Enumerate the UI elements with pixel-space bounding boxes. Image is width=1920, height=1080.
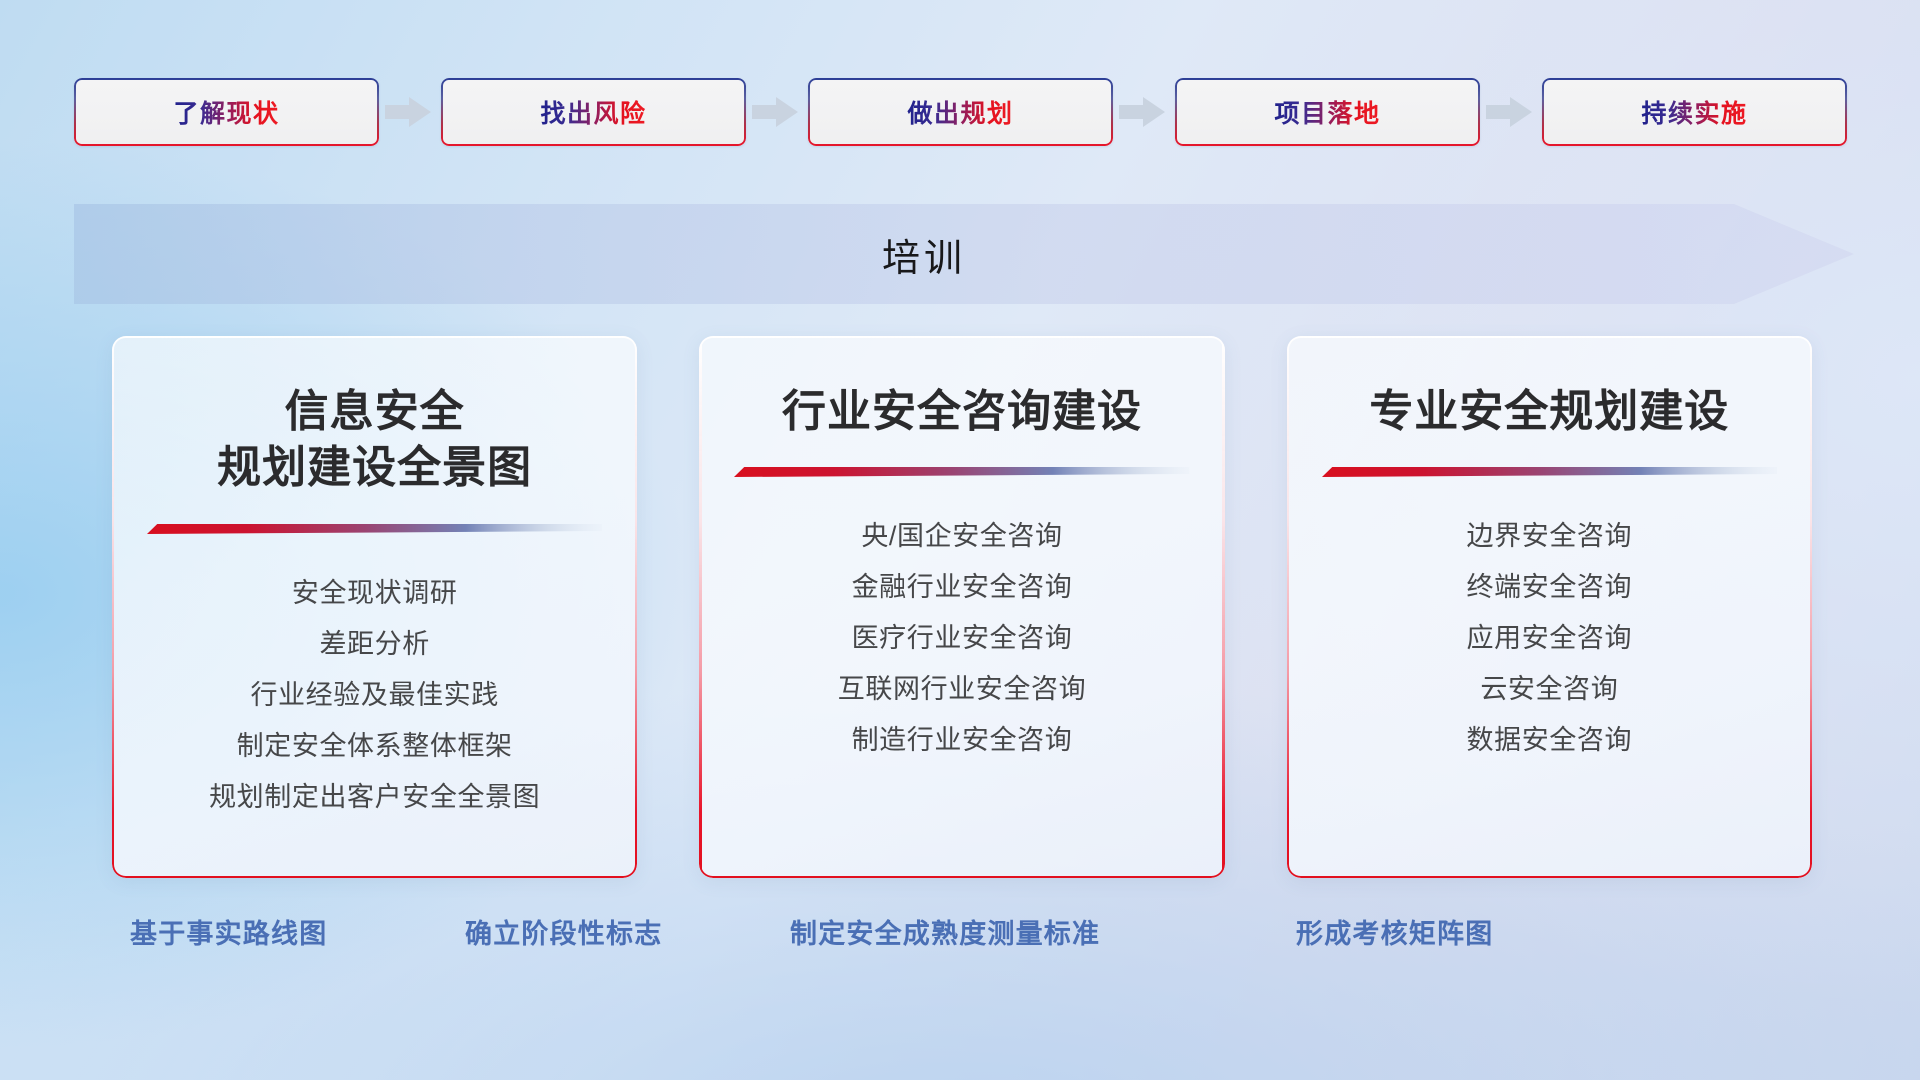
card-list-item[interactable]: 金融行业安全咨询 xyxy=(852,562,1073,613)
step-connector-arrow xyxy=(379,92,441,132)
caption-4: 形成考核矩阵图 xyxy=(1296,912,1493,951)
arrow-right-icon xyxy=(1480,92,1542,132)
service-card-1[interactable]: 信息安全 规划建设全景图安全现状调研差距分析行业经验及最佳实践制定安全体系整体框… xyxy=(112,336,637,878)
card-accent-divider xyxy=(734,466,1189,477)
arrow-right-icon xyxy=(746,92,808,132)
service-card-2[interactable]: 行业安全咨询建设央/国企安全咨询金融行业安全咨询医疗行业安全咨询互联网行业安全咨… xyxy=(699,336,1224,878)
arrow-right-icon xyxy=(379,92,441,132)
service-card-3[interactable]: 专业安全规划建设边界安全咨询终端安全咨询应用安全咨询云安全咨询数据安全咨询 xyxy=(1287,336,1812,878)
training-banner: 培训 xyxy=(74,204,1854,304)
divider-shape xyxy=(1322,466,1777,477)
step-box-5[interactable]: 持续实施 xyxy=(1542,78,1847,146)
card-list-item[interactable]: 云安全咨询 xyxy=(1480,664,1618,715)
card-item-list: 边界安全咨询终端安全咨询应用安全咨询云安全咨询数据安全咨询 xyxy=(1287,511,1812,766)
card-item-list: 安全现状调研差距分析行业经验及最佳实践制定安全体系整体框架规划制定出客户安全全景… xyxy=(112,568,637,823)
card-list-item[interactable]: 规划制定出客户安全全景图 xyxy=(209,772,540,823)
card-list-item[interactable]: 差距分析 xyxy=(319,619,429,670)
step-label: 持续实施 xyxy=(1641,94,1747,130)
step-connector-arrow xyxy=(1480,92,1542,132)
card-list-item[interactable]: 互联网行业安全咨询 xyxy=(838,664,1086,715)
slide-canvas: 了解现状找出风险做出规划项目落地持续实施 培训 信息安全 规划建设全景图安全现状… xyxy=(0,0,1920,1080)
card-title: 专业安全规划建设 xyxy=(1353,384,1745,440)
card-list-item[interactable]: 应用安全咨询 xyxy=(1467,613,1633,664)
card-item-list: 央/国企安全咨询金融行业安全咨询医疗行业安全咨询互联网行业安全咨询制造行业安全咨… xyxy=(699,511,1224,766)
cards-row: 信息安全 规划建设全景图安全现状调研差距分析行业经验及最佳实践制定安全体系整体框… xyxy=(112,336,1812,878)
card-list-item[interactable]: 央/国企安全咨询 xyxy=(861,511,1062,562)
card-list-item[interactable]: 边界安全咨询 xyxy=(1467,511,1633,562)
card-list-item[interactable]: 安全现状调研 xyxy=(292,568,458,619)
divider-shape xyxy=(147,523,602,534)
card-list-item[interactable]: 行业经验及最佳实践 xyxy=(250,670,498,721)
card-list-item[interactable]: 制定安全体系整体框架 xyxy=(237,721,513,772)
step-box-1[interactable]: 了解现状 xyxy=(74,78,379,146)
step-box-4[interactable]: 项目落地 xyxy=(1175,78,1480,146)
step-label: 项目落地 xyxy=(1274,94,1380,130)
step-connector-arrow xyxy=(1113,92,1175,132)
card-list-item[interactable]: 数据安全咨询 xyxy=(1467,715,1633,766)
card-list-item[interactable]: 制造行业安全咨询 xyxy=(852,715,1073,766)
step-label: 了解现状 xyxy=(173,94,279,130)
arrow-right-icon xyxy=(1113,92,1175,132)
caption-1: 基于事实路线图 xyxy=(130,912,327,951)
step-label: 做出规划 xyxy=(907,94,1013,130)
step-connector-arrow xyxy=(746,92,808,132)
card-list-item[interactable]: 终端安全咨询 xyxy=(1467,562,1633,613)
card-list-item[interactable]: 医疗行业安全咨询 xyxy=(852,613,1073,664)
caption-3: 制定安全成熟度测量标准 xyxy=(790,912,1100,951)
card-title: 行业安全咨询建设 xyxy=(766,384,1158,440)
card-accent-divider xyxy=(1322,466,1777,477)
captions-row: 基于事实路线图确立阶段性标志制定安全成熟度测量标准形成考核矩阵图 xyxy=(0,912,1920,972)
card-title: 信息安全 规划建设全景图 xyxy=(201,384,548,497)
step-box-2[interactable]: 找出风险 xyxy=(441,78,746,146)
process-steps: 了解现状找出风险做出规划项目落地持续实施 xyxy=(74,78,1846,146)
divider-shape xyxy=(734,466,1189,477)
step-box-3[interactable]: 做出规划 xyxy=(808,78,1113,146)
step-label: 找出风险 xyxy=(540,94,646,130)
caption-2: 确立阶段性标志 xyxy=(465,912,662,951)
card-accent-divider xyxy=(147,523,602,534)
banner-title: 培训 xyxy=(74,204,1774,304)
